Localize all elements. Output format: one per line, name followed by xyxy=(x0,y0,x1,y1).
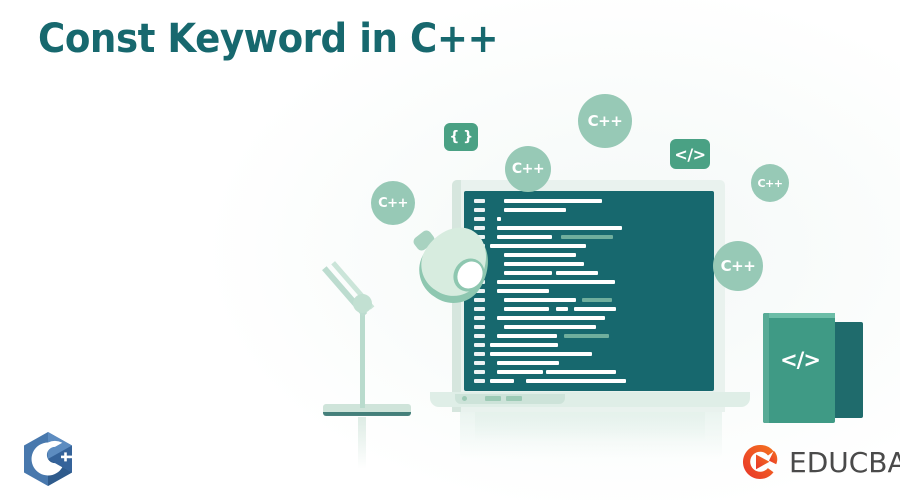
code-line-segment xyxy=(497,289,549,293)
code-line-segment xyxy=(497,370,543,374)
code-line-segment xyxy=(582,298,612,302)
code-line-number xyxy=(474,352,485,356)
code-line-number xyxy=(474,298,485,302)
code-tag-icon: </> xyxy=(770,348,830,372)
bubble-cpp-left-inner: C++ xyxy=(505,146,551,192)
code-line-segment xyxy=(504,199,602,203)
laptop-base-indicator xyxy=(462,396,467,401)
book-back xyxy=(833,322,863,418)
badge-tag: </> xyxy=(670,139,710,169)
code-line-segment xyxy=(490,379,514,383)
lamp-joint xyxy=(353,294,372,313)
laptop-base-indicator xyxy=(485,396,501,401)
code-line-number xyxy=(474,316,485,320)
code-line-segment xyxy=(526,379,626,383)
laptop-screen xyxy=(464,191,714,391)
code-line-number xyxy=(474,343,485,347)
illustration-canvas: Const Keyword in C++ </> C++C++C+ xyxy=(0,0,900,500)
laptop-base-indicator xyxy=(506,396,522,401)
code-line-segment xyxy=(574,307,616,311)
code-line-segment xyxy=(497,217,501,221)
programming-workspace-illustration: </> C++C++C++C++C++{ }</> xyxy=(0,0,900,500)
cpp-logo xyxy=(18,429,78,489)
laptop-reflection xyxy=(460,407,722,459)
code-line-number xyxy=(474,325,485,329)
code-line-segment xyxy=(497,361,559,365)
code-line-number xyxy=(474,199,485,203)
lamp-reflection xyxy=(358,417,366,469)
code-line-segment xyxy=(504,208,566,212)
code-line-segment xyxy=(504,271,552,275)
code-line-segment xyxy=(497,280,615,284)
bubble-cpp-top: C++ xyxy=(578,94,632,148)
code-line-segment xyxy=(490,244,586,248)
laptop-reflection-screen xyxy=(475,407,705,441)
code-line-segment xyxy=(504,262,584,266)
code-line-number xyxy=(474,226,485,230)
code-line-number xyxy=(474,379,485,383)
code-line-segment xyxy=(504,325,596,329)
bubble-cpp-right-top: C++ xyxy=(751,164,789,202)
code-line-segment xyxy=(497,316,605,320)
code-line-segment xyxy=(504,298,576,302)
code-line-segment xyxy=(490,343,558,347)
cpp-logo-icon xyxy=(18,429,78,489)
bubble-cpp-right-mid: C++ xyxy=(713,241,763,291)
educba-logo: EDUCBA xyxy=(740,440,900,484)
educba-play-icon xyxy=(740,442,780,482)
code-line-segment xyxy=(546,370,616,374)
code-line-segment xyxy=(564,334,609,338)
code-line-number xyxy=(474,307,485,311)
code-line-number xyxy=(474,334,485,338)
code-line-number xyxy=(474,361,485,365)
code-line-segment xyxy=(497,235,552,239)
book-front-top-edge xyxy=(769,313,835,318)
lamp-base-shadow xyxy=(323,412,411,416)
code-line-number xyxy=(474,370,485,374)
code-line-segment xyxy=(556,271,598,275)
educba-wordmark: EDUCBA xyxy=(789,446,900,479)
book-front-spine xyxy=(763,313,769,423)
badge-braces: { } xyxy=(444,123,478,151)
code-line-number xyxy=(474,208,485,212)
code-line-segment xyxy=(497,334,557,338)
code-line-segment xyxy=(497,226,622,230)
code-line-segment xyxy=(561,235,613,239)
code-line-segment xyxy=(504,307,549,311)
code-line-segment xyxy=(504,253,576,257)
lamp-post xyxy=(360,302,365,408)
code-line-segment xyxy=(556,307,568,311)
code-line-segment xyxy=(490,352,592,356)
code-line-number xyxy=(474,217,485,221)
bubble-cpp-left-outer: C++ xyxy=(371,181,415,225)
